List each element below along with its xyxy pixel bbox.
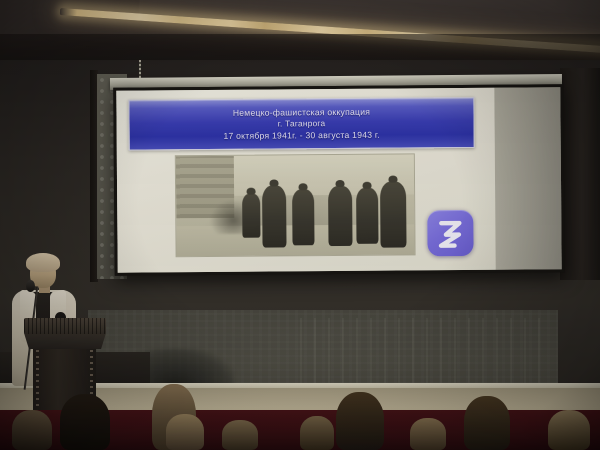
slide-title-banner: Немецко-фашистская оккупация г. Таганрог…: [128, 97, 474, 151]
podium-slope: [24, 333, 106, 349]
audience-head: [464, 396, 510, 450]
screen-unlit-strip: [494, 87, 561, 270]
microphone-icon: [26, 280, 35, 292]
audience-head: [60, 394, 110, 450]
slide-title-line-2: г. Таганрога: [278, 118, 326, 130]
lecture-hall-photo: Немецко-фашистская оккупация г. Таганрог…: [0, 0, 600, 450]
screen-surface: Немецко-фашистская оккупация г. Таганрог…: [116, 87, 561, 272]
photo-soldier: [242, 194, 260, 238]
audience-head: [300, 416, 334, 450]
audience-head: [548, 410, 590, 450]
presenter-hair: [26, 253, 60, 272]
podium-fluted-top: [24, 318, 106, 334]
audience-head: [336, 392, 384, 450]
audience-head: [12, 410, 52, 450]
seated-audience: [0, 372, 600, 450]
side-wall-strip: [560, 68, 600, 280]
projection-screen: Немецко-фашистская оккупация г. Таганрог…: [113, 84, 564, 276]
photo-soldier: [328, 186, 352, 246]
photo-soldier: [356, 188, 378, 244]
photo-soldier: [292, 189, 314, 245]
audience-head: [410, 418, 446, 450]
audience-head: [222, 420, 258, 450]
photo-soldier: [262, 185, 286, 247]
slide-title-line-1: Немецко-фашистская оккупация: [233, 106, 370, 119]
audience-head: [166, 414, 204, 450]
projected-slide: Немецко-фашистская оккупация г. Таганрог…: [116, 88, 495, 273]
slide-title-line-3: 17 октября 1941г. - 30 августа 1943 г.: [223, 129, 380, 142]
photo-soldier: [380, 181, 407, 247]
z-glyph-logo-icon: [427, 210, 473, 256]
slide-historical-photo: [175, 153, 416, 257]
